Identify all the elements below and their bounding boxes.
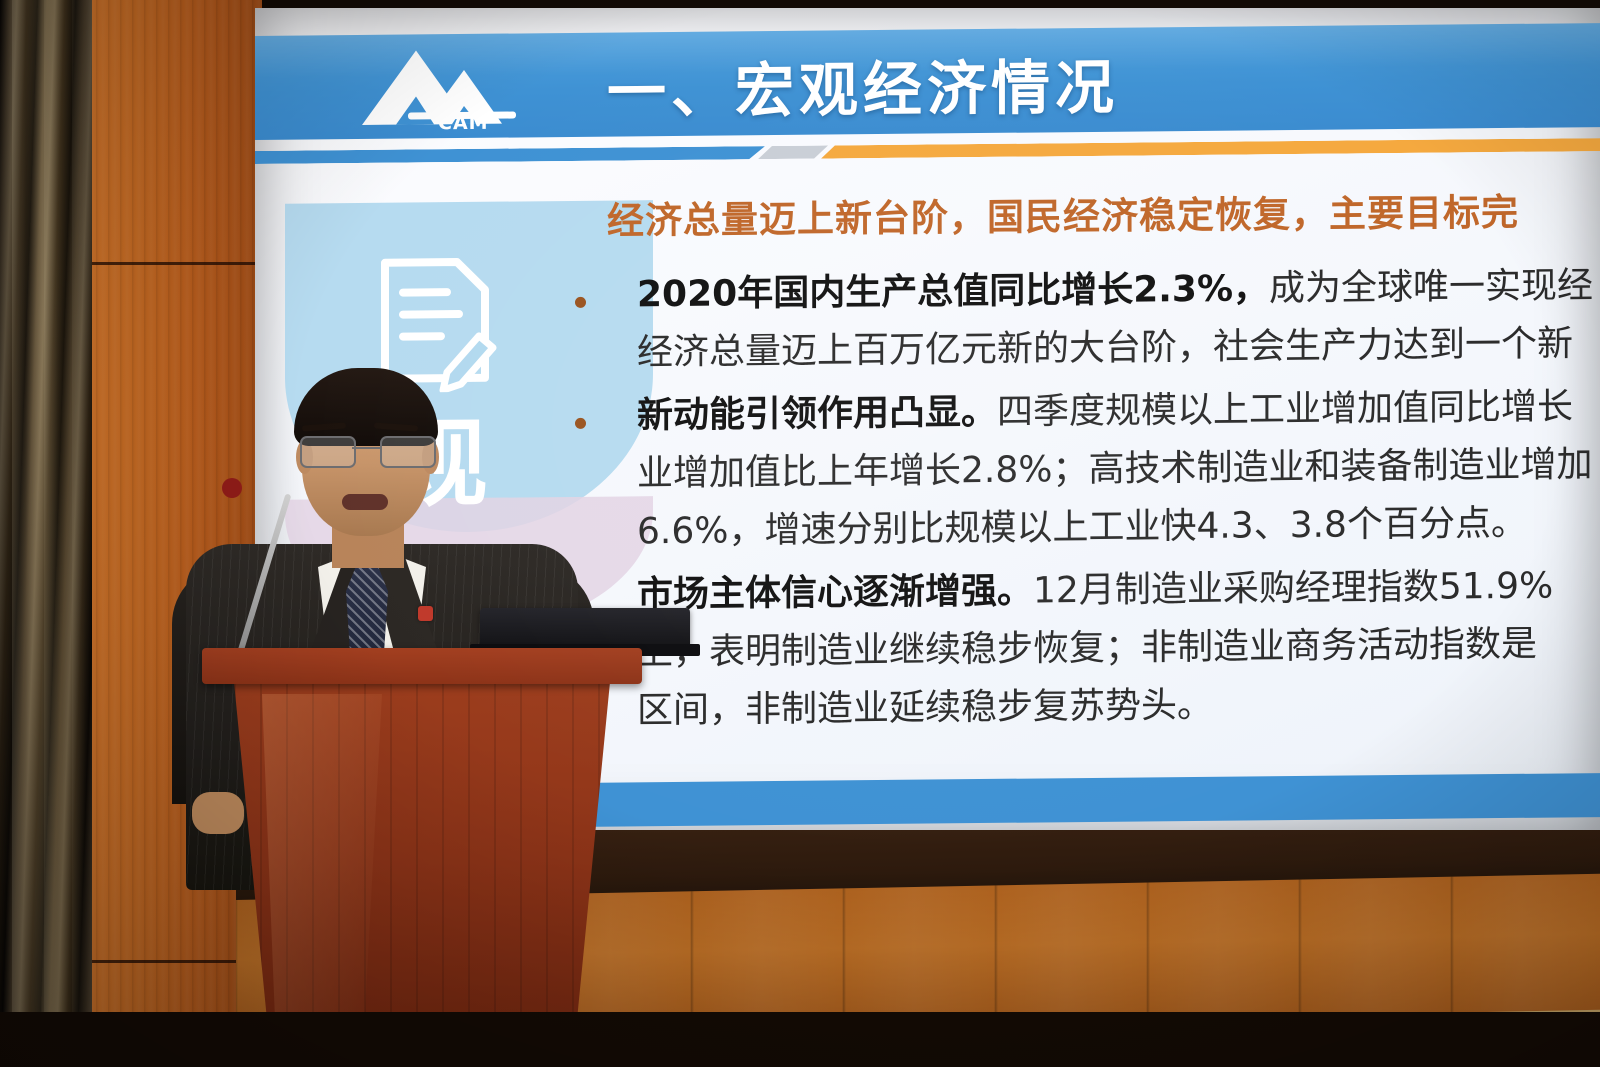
slide-body: 2020年国内生产总值同比增长2.3%，成为全球唯一实现经 经济总量迈上百万亿元…	[575, 256, 1600, 745]
bullet-lead: 2020年国内生产总值同比增长2.3%，	[637, 268, 1269, 315]
accent-stripe-grey	[758, 145, 828, 159]
microphone-head	[222, 478, 242, 498]
wall-seam	[88, 262, 262, 265]
stage-curtain	[0, 0, 92, 1067]
glasses-icon	[298, 436, 434, 466]
bullet-item: 市场主体信心逐渐增强。12月制造业采购经理指数51.9% 上，表明制造业继续稳步…	[575, 556, 1600, 741]
accent-stripe-blue	[255, 146, 765, 164]
accent-stripe-orange	[821, 138, 1600, 158]
podium-top	[202, 648, 642, 684]
cam-logo: CAM	[360, 43, 520, 133]
slide-subtitle: 经济总量迈上新台阶，国民经济稳定恢复，主要目标完	[607, 182, 1519, 245]
bullet-continuation: 6.6%，增速分别比规模以上工业快4.3、3.8个百分点。	[637, 494, 1600, 562]
bullet-item: 新动能引领作用凸显。四季度规模以上工业增加值同比增长 业增加值比上年增长2.8%…	[575, 377, 1600, 562]
bullet-rest: 成为全球唯一实现经	[1269, 265, 1593, 309]
bullet-text: 新动能引领作用凸显。四季度规模以上工业增加值同比增长	[637, 377, 1600, 445]
bullet-item: 2020年国内生产总值同比增长2.3%，成为全球唯一实现经 经济总量迈上百万亿元…	[575, 256, 1600, 383]
lens-left	[300, 436, 356, 468]
slide-title: 一、宏观经济情况	[607, 40, 1119, 130]
stage-front	[0, 1012, 1600, 1067]
bullet-continuation: 上，表明制造业继续稳步恢复；非制造业商务活动指数是	[637, 614, 1600, 682]
bullet-text: 市场主体信心逐渐增强。12月制造业采购经理指数51.9%	[637, 556, 1600, 624]
curtain-fold	[44, 0, 58, 1067]
bullet-continuation: 经济总量迈上百万亿元新的大台阶，社会生产力达到一个新	[637, 315, 1600, 383]
laptop	[480, 608, 690, 648]
bullet-lead: 新动能引领作用凸显。	[637, 392, 997, 436]
mouth	[342, 494, 388, 510]
bullet-continuation: 业增加值比上年增长2.8%；高技术制造业和装备制造业增加	[637, 435, 1600, 503]
bullet-text: 2020年国内生产总值同比增长2.3%，成为全球唯一实现经	[637, 256, 1600, 324]
bullet-rest: 四季度规模以上工业增加值同比增长	[997, 386, 1573, 433]
svg-text:CAM: CAM	[438, 112, 489, 133]
lapel-pin	[418, 606, 433, 621]
podium-highlight	[262, 694, 382, 1054]
bullet-dot-icon	[575, 297, 586, 308]
curtain-fold	[12, 0, 26, 1067]
glasses-bridge	[352, 447, 380, 449]
presentation-photo: 观 CAM 一、宏观经济情况	[0, 0, 1600, 1067]
bullet-rest: 12月制造业采购经理指数51.9%	[1033, 565, 1553, 611]
podium	[202, 648, 642, 1067]
bullet-continuation: 区间，非制造业延续稳步复苏势头。	[637, 673, 1600, 741]
lens-right	[380, 436, 436, 468]
curtain-fold	[72, 0, 86, 1067]
bullet-lead: 市场主体信心逐渐增强。	[637, 570, 1033, 615]
hair	[294, 368, 438, 446]
